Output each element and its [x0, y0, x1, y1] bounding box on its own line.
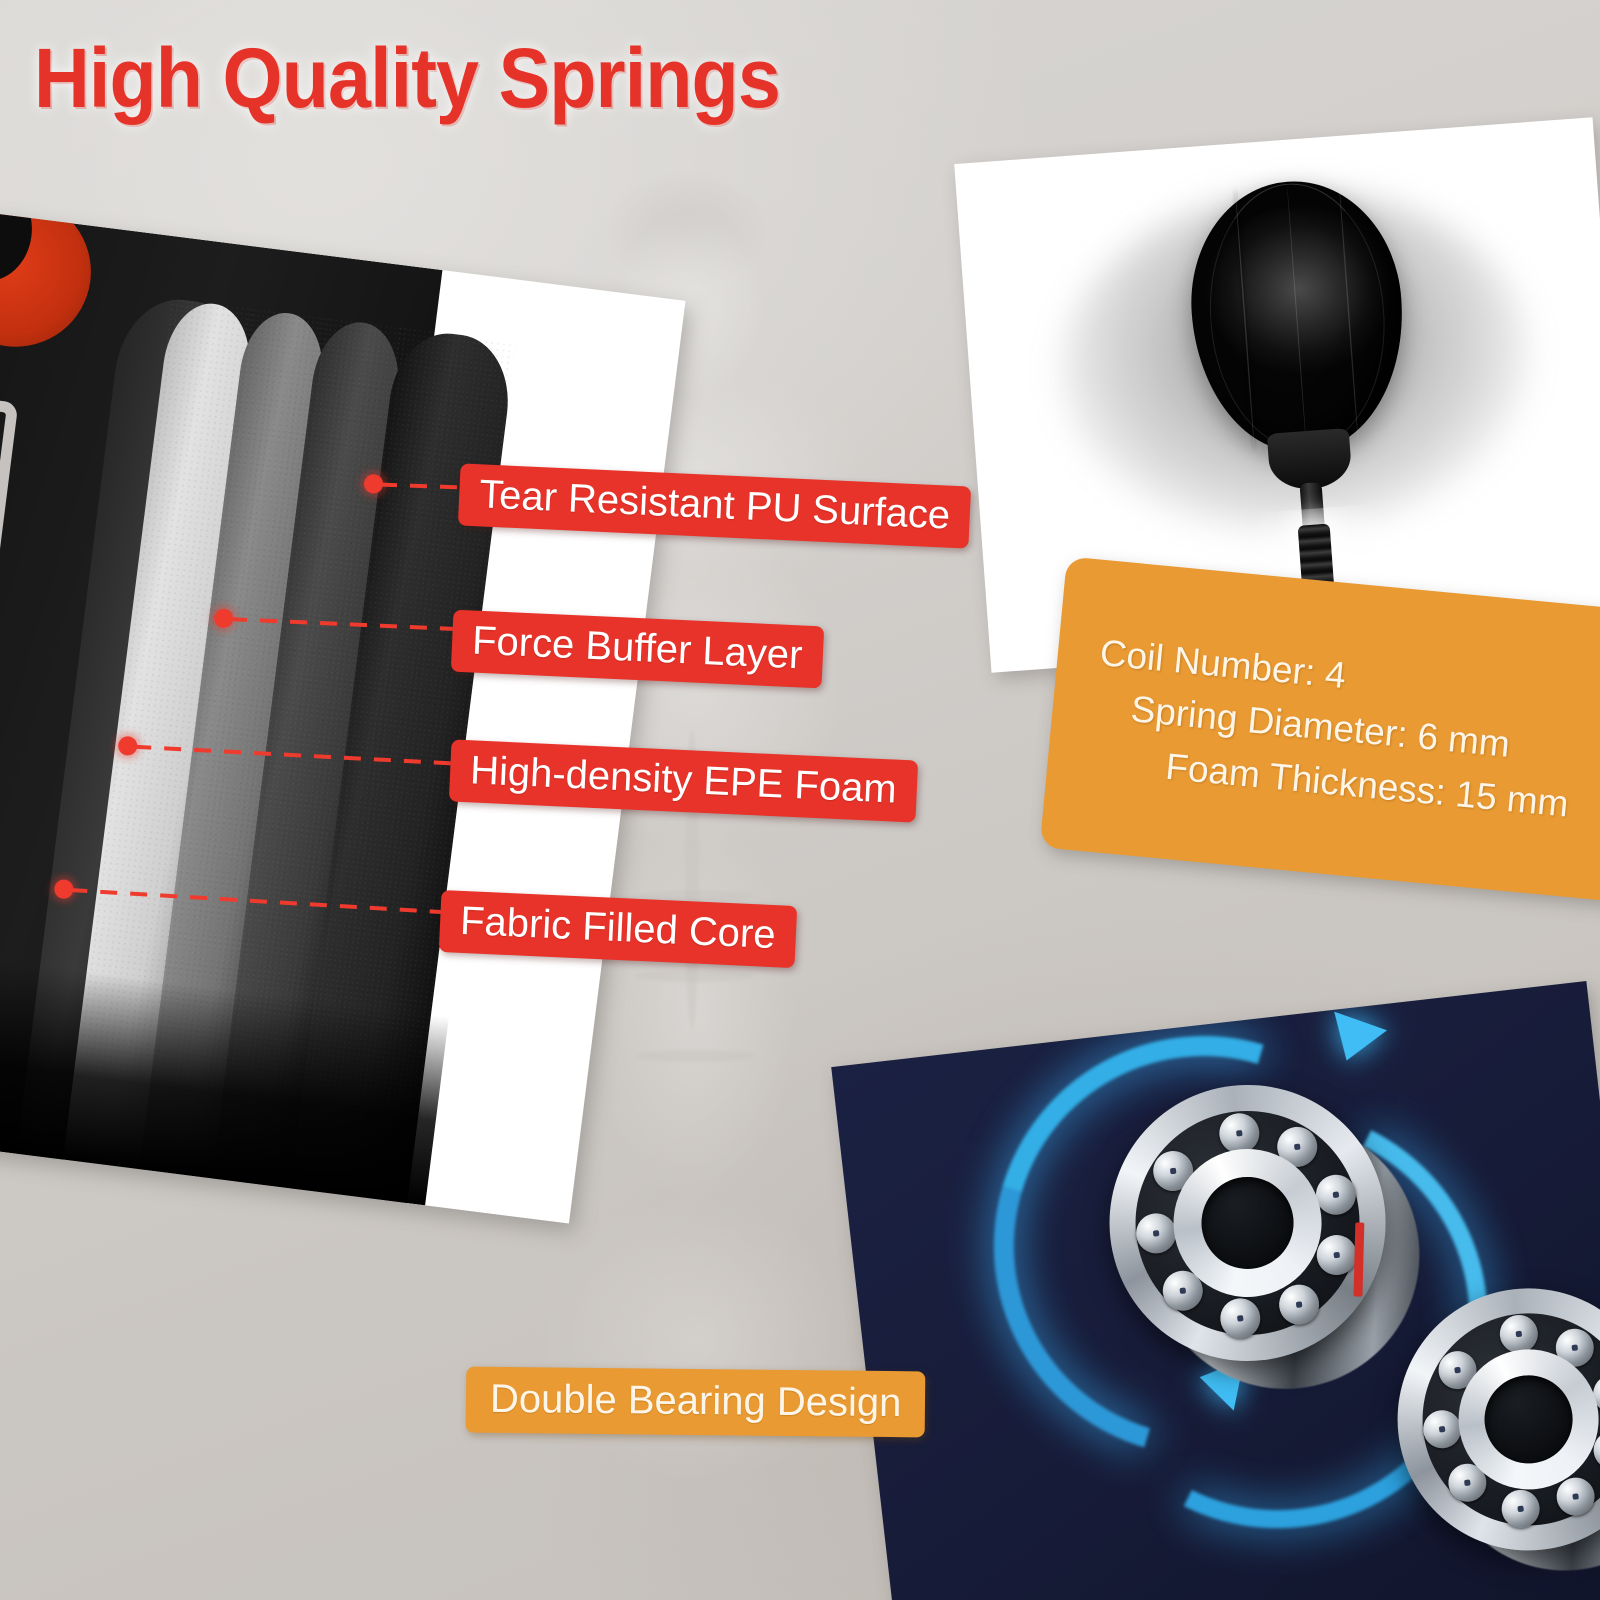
brand-ring-icon — [0, 212, 100, 355]
brand-mark-icon — [0, 395, 18, 602]
bearings-photo — [831, 981, 1600, 1600]
bearing-2 — [1384, 1274, 1600, 1564]
infographic-canvas: Coil Number: 4 Spring Diameter: 6 mm Foa… — [0, 0, 1600, 1600]
callout-double-bearing-design: Double Bearing Design — [466, 1367, 926, 1438]
layered-material-photo — [0, 212, 686, 1223]
arrow-head-top-icon — [1320, 1012, 1387, 1070]
page-title: High Quality Springs — [34, 36, 780, 120]
bearing-1 — [1095, 1070, 1400, 1375]
spec-panel: Coil Number: 4 Spring Diameter: 6 mm Foa… — [1040, 556, 1600, 903]
